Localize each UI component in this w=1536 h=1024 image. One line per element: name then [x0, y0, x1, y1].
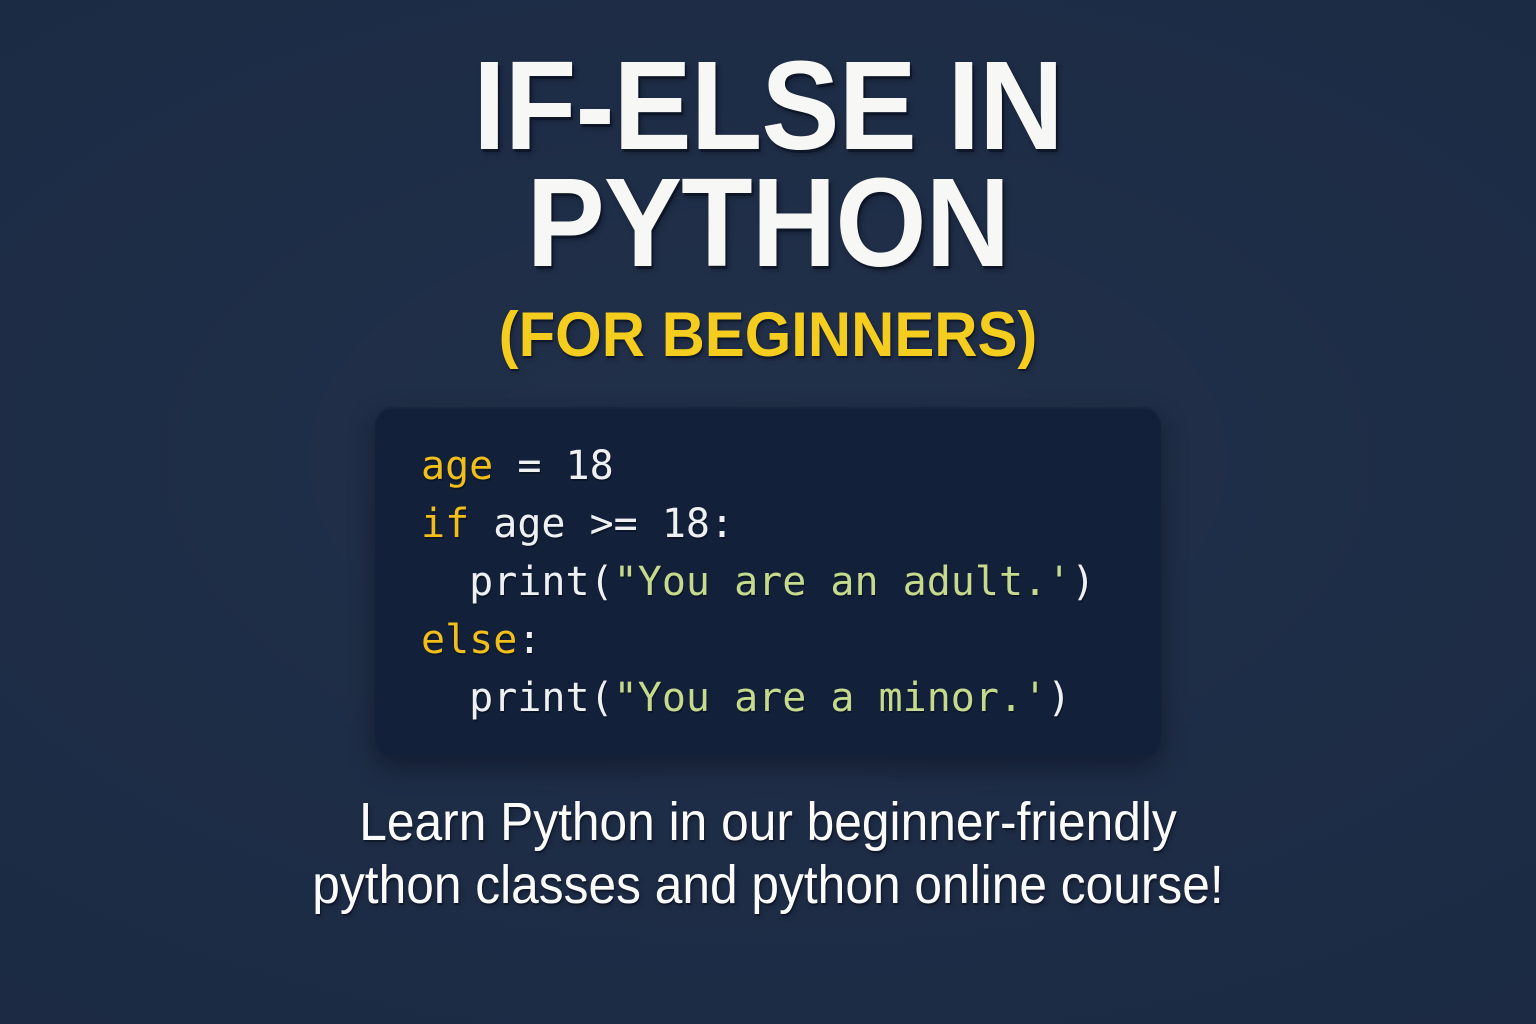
poster-canvas: IF-ELSE IN PYTHON (FOR BEGINNERS) age = …	[0, 0, 1536, 1024]
code-token-string: "You are a minor.'	[614, 675, 1047, 721]
code-token-text: print(	[421, 675, 614, 721]
code-line: else:	[421, 611, 1121, 669]
code-line: print("You are an adult.')	[421, 553, 1121, 611]
page-title-line-1: IF-ELSE IN	[54, 44, 1482, 167]
subtitle: (FOR BEGINNERS)	[38, 299, 1497, 371]
caption-line-1: Learn Python in our beginner-friendly	[61, 791, 1474, 854]
page-title-line-2: PYTHON	[54, 161, 1482, 284]
code-token-text: )	[1047, 675, 1071, 721]
code-token-text: age >= 18:	[469, 501, 734, 547]
code-token-text: :	[517, 617, 541, 663]
code-token-keyword: age	[421, 443, 493, 489]
caption-block: Learn Python in our beginner-friendly py…	[61, 791, 1474, 916]
code-line: age = 18	[421, 437, 1121, 495]
code-block-wrapper: age = 18if age >= 18: print("You are an …	[0, 407, 1536, 757]
code-line: print("You are a minor.')	[421, 669, 1121, 727]
caption-line-2: python classes and python online course!	[61, 854, 1474, 917]
code-token-text: print(	[421, 559, 614, 605]
code-line: if age >= 18:	[421, 495, 1121, 553]
code-token-keyword: if	[421, 501, 469, 547]
code-token-text: = 18	[493, 443, 613, 489]
title-block: IF-ELSE IN PYTHON (FOR BEGINNERS)	[0, 0, 1536, 371]
code-card: age = 18if age >= 18: print("You are an …	[375, 407, 1161, 757]
code-token-string: "You are an adult.'	[614, 559, 1072, 605]
code-token-keyword: else	[421, 617, 517, 663]
code-token-text: )	[1071, 559, 1095, 605]
